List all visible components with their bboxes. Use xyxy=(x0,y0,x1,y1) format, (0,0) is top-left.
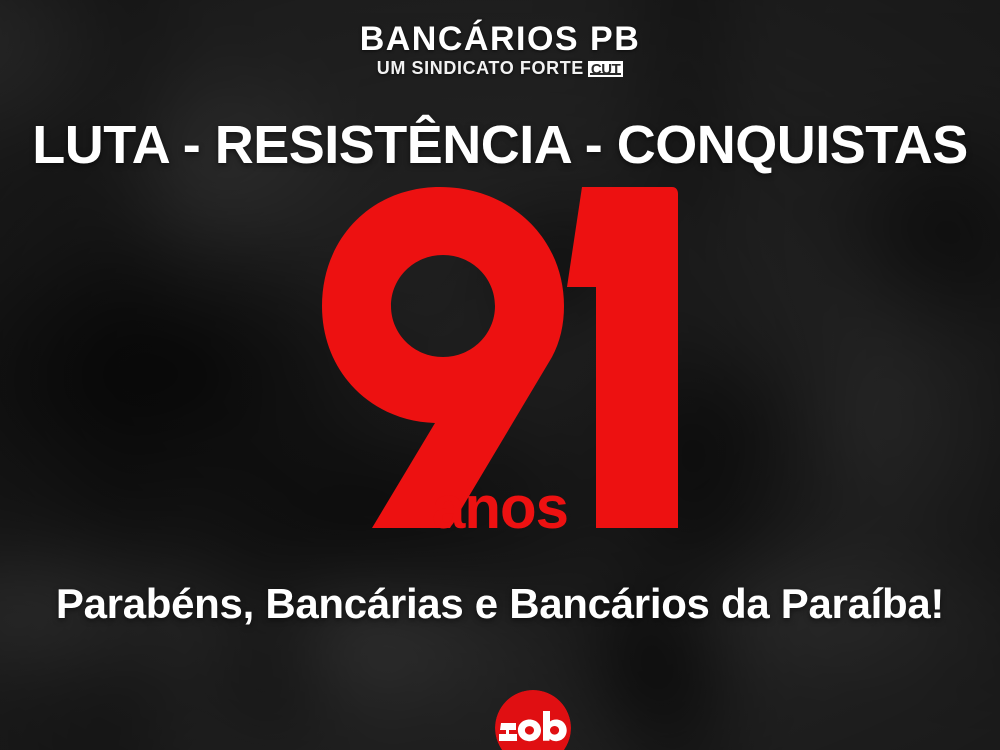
brand-tagline-row: UM SINDICATO FORTE CUT xyxy=(0,59,1000,77)
brand-name: BANCÁRIOS PB xyxy=(0,22,1000,56)
greeting-text: Parabéns, Bancárias e Bancários da Paraí… xyxy=(0,583,1000,625)
anniversary-unit-label: anos xyxy=(0,478,1000,538)
brand-tagline: UM SINDICATO FORTE xyxy=(377,59,584,77)
brand-lockup: BANCÁRIOS PB UM SINDICATO FORTE CUT xyxy=(0,22,1000,77)
page-title: LUTA - RESISTÊNCIA - CONQUISTAS xyxy=(0,118,1000,172)
poster-canvas: BANCÁRIOS PB UM SINDICATO FORTE CUT LUTA… xyxy=(0,0,1000,750)
cut-affiliation-badge: CUT xyxy=(588,61,623,78)
